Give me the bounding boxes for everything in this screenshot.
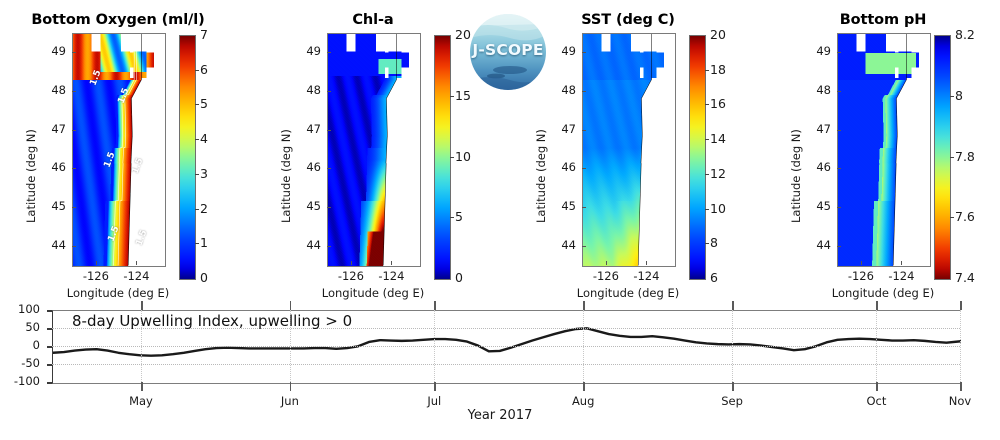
colorbar-tickmark	[450, 217, 454, 218]
colorbar-tick-bottom-oxygen-7: 0	[200, 270, 208, 285]
colorbar-tick-sst-3: 14	[710, 131, 726, 146]
colorbar-tickmark	[195, 174, 199, 175]
map-xtickmark	[136, 261, 137, 265]
chart-month-line	[583, 310, 585, 382]
map-xtick-sst-0: -126	[584, 269, 628, 283]
chart-ytickmark	[47, 382, 52, 384]
colorbar-tick-bottom-oxygen-1: 6	[200, 62, 208, 77]
map-canvas-bottom-ph	[838, 34, 930, 266]
map-ytick-sst-1: 48	[548, 83, 576, 97]
chart-xtickmark-top	[583, 301, 585, 310]
map-title-sst: SST (deg C)	[524, 12, 732, 28]
map-ytickmark	[582, 130, 586, 131]
colorbar-tick-bottom-oxygen-4: 3	[200, 166, 208, 181]
chart-title: 8-day Upwelling Index, upwelling > 0	[72, 312, 352, 330]
colorbar-tick-sst-7: 6	[710, 270, 718, 285]
map-ytick-chl-a-1: 48	[293, 83, 321, 97]
map-ytickmark	[837, 168, 841, 169]
colorbar-tick-sst-4: 12	[710, 166, 726, 181]
chart-xtickmark	[732, 382, 734, 391]
map-ytickmark	[837, 246, 841, 247]
map-ytickmark	[837, 91, 841, 92]
map-xtick-bottom-ph-0: -126	[839, 269, 883, 283]
map-ytick-bottom-oxygen-5: 44	[38, 238, 66, 252]
colorbar-tick-bottom-oxygen-2: 5	[200, 96, 208, 111]
map-title-chl-a: Chl-a	[269, 12, 477, 28]
map-ytick-chl-a-0: 49	[293, 44, 321, 58]
chart-ytick-4: -100	[0, 374, 40, 388]
colorbar-tick-bottom-ph-0: 8.2	[955, 27, 975, 42]
map-ytick-bottom-ph-2: 47	[803, 122, 831, 136]
map-xlabel-bottom-ph: Longitude (deg E)	[804, 286, 962, 300]
map-xtickmark	[606, 261, 607, 265]
chart-ytick-0: 100	[0, 302, 40, 316]
chart-ytick-3: -50	[0, 356, 40, 370]
map-ytick-bottom-oxygen-0: 49	[38, 44, 66, 58]
chart-xtickmark-top	[876, 301, 878, 310]
map-xtick-chl-a-1: -124	[369, 269, 413, 283]
chart-month-line	[960, 310, 962, 382]
map-ytickmark	[837, 52, 841, 53]
colorbar-tickmark	[705, 139, 709, 140]
colorbar-tick-sst-1: 18	[710, 62, 726, 77]
map-xtickmark	[861, 261, 862, 265]
map-ytick-bottom-oxygen-2: 47	[38, 122, 66, 136]
map-xlabel-chl-a: Longitude (deg E)	[294, 286, 452, 300]
chart-xtickmark-top	[290, 301, 292, 310]
chart-xtickmark-top	[141, 301, 143, 310]
map-xlabel-sst: Longitude (deg E)	[549, 286, 707, 300]
map-xlabel-bottom-oxygen: Longitude (deg E)	[39, 286, 197, 300]
chart-xtickmark	[960, 382, 962, 391]
figure-root: Bottom Oxygen (ml/l)1.51.51.51.51.51.549…	[0, 0, 1000, 440]
map-ytickmark	[582, 207, 586, 208]
map-ytickmark	[582, 168, 586, 169]
map-ytickmark	[327, 130, 331, 131]
map-ylabel-chl-a: Latitude (deg N)	[279, 129, 293, 223]
chart-xtick-label-0: May	[111, 394, 171, 408]
colorbar-tickmark	[705, 104, 709, 105]
colorbar-tickmark	[705, 70, 709, 71]
map-panel-bottom-oxygen: Bottom Oxygen (ml/l)1.51.51.51.51.51.549…	[28, 0, 283, 300]
map-ytick-bottom-ph-1: 48	[803, 83, 831, 97]
colorbar-tickmark	[195, 243, 199, 244]
colorbar-tick-sst-2: 16	[710, 96, 726, 111]
colorbar-tickmark	[950, 217, 954, 218]
colorbar-tick-chl-a-4: 0	[455, 270, 463, 285]
chart-xtickmark-top	[960, 301, 962, 310]
map-title-bottom-ph: Bottom pH	[779, 12, 987, 28]
map-xtick-bottom-ph-1: -124	[879, 269, 923, 283]
colorbar-tick-sst-5: 10	[710, 201, 726, 216]
chart-xtick-label-6: Nov	[930, 394, 990, 408]
map-ytickmark	[72, 246, 76, 247]
chart-xtick-label-2: Jul	[404, 394, 464, 408]
chart-month-line	[876, 310, 878, 382]
map-ytickmark	[72, 52, 76, 53]
map-xtickmark	[391, 261, 392, 265]
chart-month-line	[732, 310, 734, 382]
colorbar-tickmark	[705, 209, 709, 210]
colorbar-tick-bottom-oxygen-0: 7	[200, 27, 208, 42]
map-panel-sst: SST (deg C)494847464544-126-124Latitude …	[538, 0, 793, 300]
chart-xtick-label-5: Oct	[846, 394, 906, 408]
colorbar-tick-bottom-oxygen-5: 2	[200, 201, 208, 216]
map-xtick-chl-a-0: -126	[329, 269, 373, 283]
map-xtick-bottom-oxygen-0: -126	[74, 269, 118, 283]
chart-gridline	[52, 364, 960, 366]
colorbar-tickmark	[195, 104, 199, 105]
map-ytickmark	[327, 91, 331, 92]
map-ytick-sst-4: 45	[548, 199, 576, 213]
chart-xlabel: Year 2017	[0, 408, 1000, 423]
map-ytick-bottom-ph-4: 45	[803, 199, 831, 213]
map-ytickmark	[582, 52, 586, 53]
map-xtickmark	[96, 261, 97, 265]
chart-xtickmark	[290, 382, 292, 391]
map-ytickmark	[72, 207, 76, 208]
map-ytickmark	[582, 91, 586, 92]
chart-ytick-1: 50	[0, 320, 40, 334]
map-ytickmark	[72, 130, 76, 131]
map-xtickmark	[351, 261, 352, 265]
map-ytickmark	[837, 130, 841, 131]
map-ytickmark	[837, 207, 841, 208]
map-title-bottom-oxygen: Bottom Oxygen (ml/l)	[14, 12, 222, 28]
colorbar-tickmark	[195, 70, 199, 71]
j-scope-logo: J-SCOPE	[470, 14, 546, 90]
map-ytickmark	[327, 168, 331, 169]
chart-xtickmark-top	[434, 301, 436, 310]
colorbar-tick-bottom-ph-1: 8	[955, 88, 963, 103]
colorbar-tick-bottom-ph-2: 7.8	[955, 149, 975, 164]
colorbar-tickmark	[195, 209, 199, 210]
colorbar-tickmark	[705, 243, 709, 244]
map-ytick-sst-2: 47	[548, 122, 576, 136]
colorbar-tick-bottom-oxygen-6: 1	[200, 235, 208, 250]
map-ylabel-sst: Latitude (deg N)	[534, 129, 548, 223]
colorbar-chl-a	[434, 35, 451, 280]
colorbar-tick-bottom-ph-4: 7.4	[955, 270, 975, 285]
logo-label: J-SCOPE	[470, 41, 546, 59]
colorbar-tick-bottom-ph-3: 7.6	[955, 209, 975, 224]
upwelling-index-chart: 100500-50-100MayJunJulAugSepOctNov Year …	[0, 300, 1000, 440]
colorbar-bottom-ph	[934, 35, 951, 280]
map-ytickmark	[327, 246, 331, 247]
map-image-sst	[582, 33, 676, 267]
map-ytickmark	[582, 246, 586, 247]
colorbar-bottom-oxygen	[179, 35, 196, 280]
map-ytick-bottom-ph-5: 44	[803, 238, 831, 252]
map-ytickmark	[72, 168, 76, 169]
map-ytickmark	[72, 91, 76, 92]
map-xtickmark	[646, 261, 647, 265]
map-ytickmark	[327, 207, 331, 208]
map-ytickmark	[327, 52, 331, 53]
colorbar-tick-chl-a-3: 5	[455, 209, 463, 224]
map-ytick-bottom-oxygen-4: 45	[38, 199, 66, 213]
map-ytick-chl-a-4: 45	[293, 199, 321, 213]
chart-xtick-label-3: Aug	[553, 394, 613, 408]
chart-xtickmark	[876, 382, 878, 391]
chart-xtickmark-top	[732, 301, 734, 310]
map-image-bottom-ph	[837, 33, 931, 267]
map-ytick-sst-5: 44	[548, 238, 576, 252]
colorbar-tick-sst-6: 8	[710, 235, 718, 250]
colorbar-tick-chl-a-0: 20	[455, 27, 471, 42]
map-xtickmark	[901, 261, 902, 265]
map-ylabel-bottom-oxygen: Latitude (deg N)	[24, 129, 38, 223]
map-ytick-bottom-oxygen-3: 46	[38, 160, 66, 174]
colorbar-tick-chl-a-2: 10	[455, 149, 471, 164]
map-image-chl-a	[327, 33, 421, 267]
colorbar-sst	[689, 35, 706, 280]
map-ytick-bottom-oxygen-1: 48	[38, 83, 66, 97]
colorbar-tick-bottom-oxygen-3: 4	[200, 131, 208, 146]
map-canvas-sst	[583, 34, 675, 266]
map-ytick-sst-3: 46	[548, 160, 576, 174]
colorbar-tickmark	[195, 139, 199, 140]
chart-ytickmark	[47, 310, 52, 312]
chart-ytick-2: 0	[0, 338, 40, 352]
colorbar-tickmark	[950, 96, 954, 97]
colorbar-tickmark	[450, 96, 454, 97]
chart-month-line	[434, 310, 436, 382]
map-ytick-sst-0: 49	[548, 44, 576, 58]
map-ylabel-bottom-ph: Latitude (deg N)	[789, 129, 803, 223]
map-xtick-bottom-oxygen-1: -124	[114, 269, 158, 283]
colorbar-tickmark	[450, 157, 454, 158]
chart-xtickmark	[141, 382, 143, 391]
map-ytick-chl-a-2: 47	[293, 122, 321, 136]
map-xtick-sst-1: -124	[624, 269, 668, 283]
colorbar-tick-sst-0: 20	[710, 27, 726, 42]
chart-xtickmark	[583, 382, 585, 391]
chart-gridline	[52, 346, 960, 348]
map-ytick-bottom-ph-0: 49	[803, 44, 831, 58]
map-canvas-chl-a	[328, 34, 420, 266]
chart-xtickmark	[434, 382, 436, 391]
map-ytick-bottom-ph-3: 46	[803, 160, 831, 174]
chart-xtick-label-1: Jun	[260, 394, 320, 408]
colorbar-tickmark	[950, 157, 954, 158]
colorbar-tickmark	[705, 174, 709, 175]
colorbar-tick-chl-a-1: 15	[455, 88, 471, 103]
map-ytick-chl-a-5: 44	[293, 238, 321, 252]
map-panel-bottom-ph: Bottom pH494847464544-126-124Latitude (d…	[793, 0, 973, 300]
map-ytick-chl-a-3: 46	[293, 160, 321, 174]
chart-xtick-label-4: Sep	[702, 394, 762, 408]
